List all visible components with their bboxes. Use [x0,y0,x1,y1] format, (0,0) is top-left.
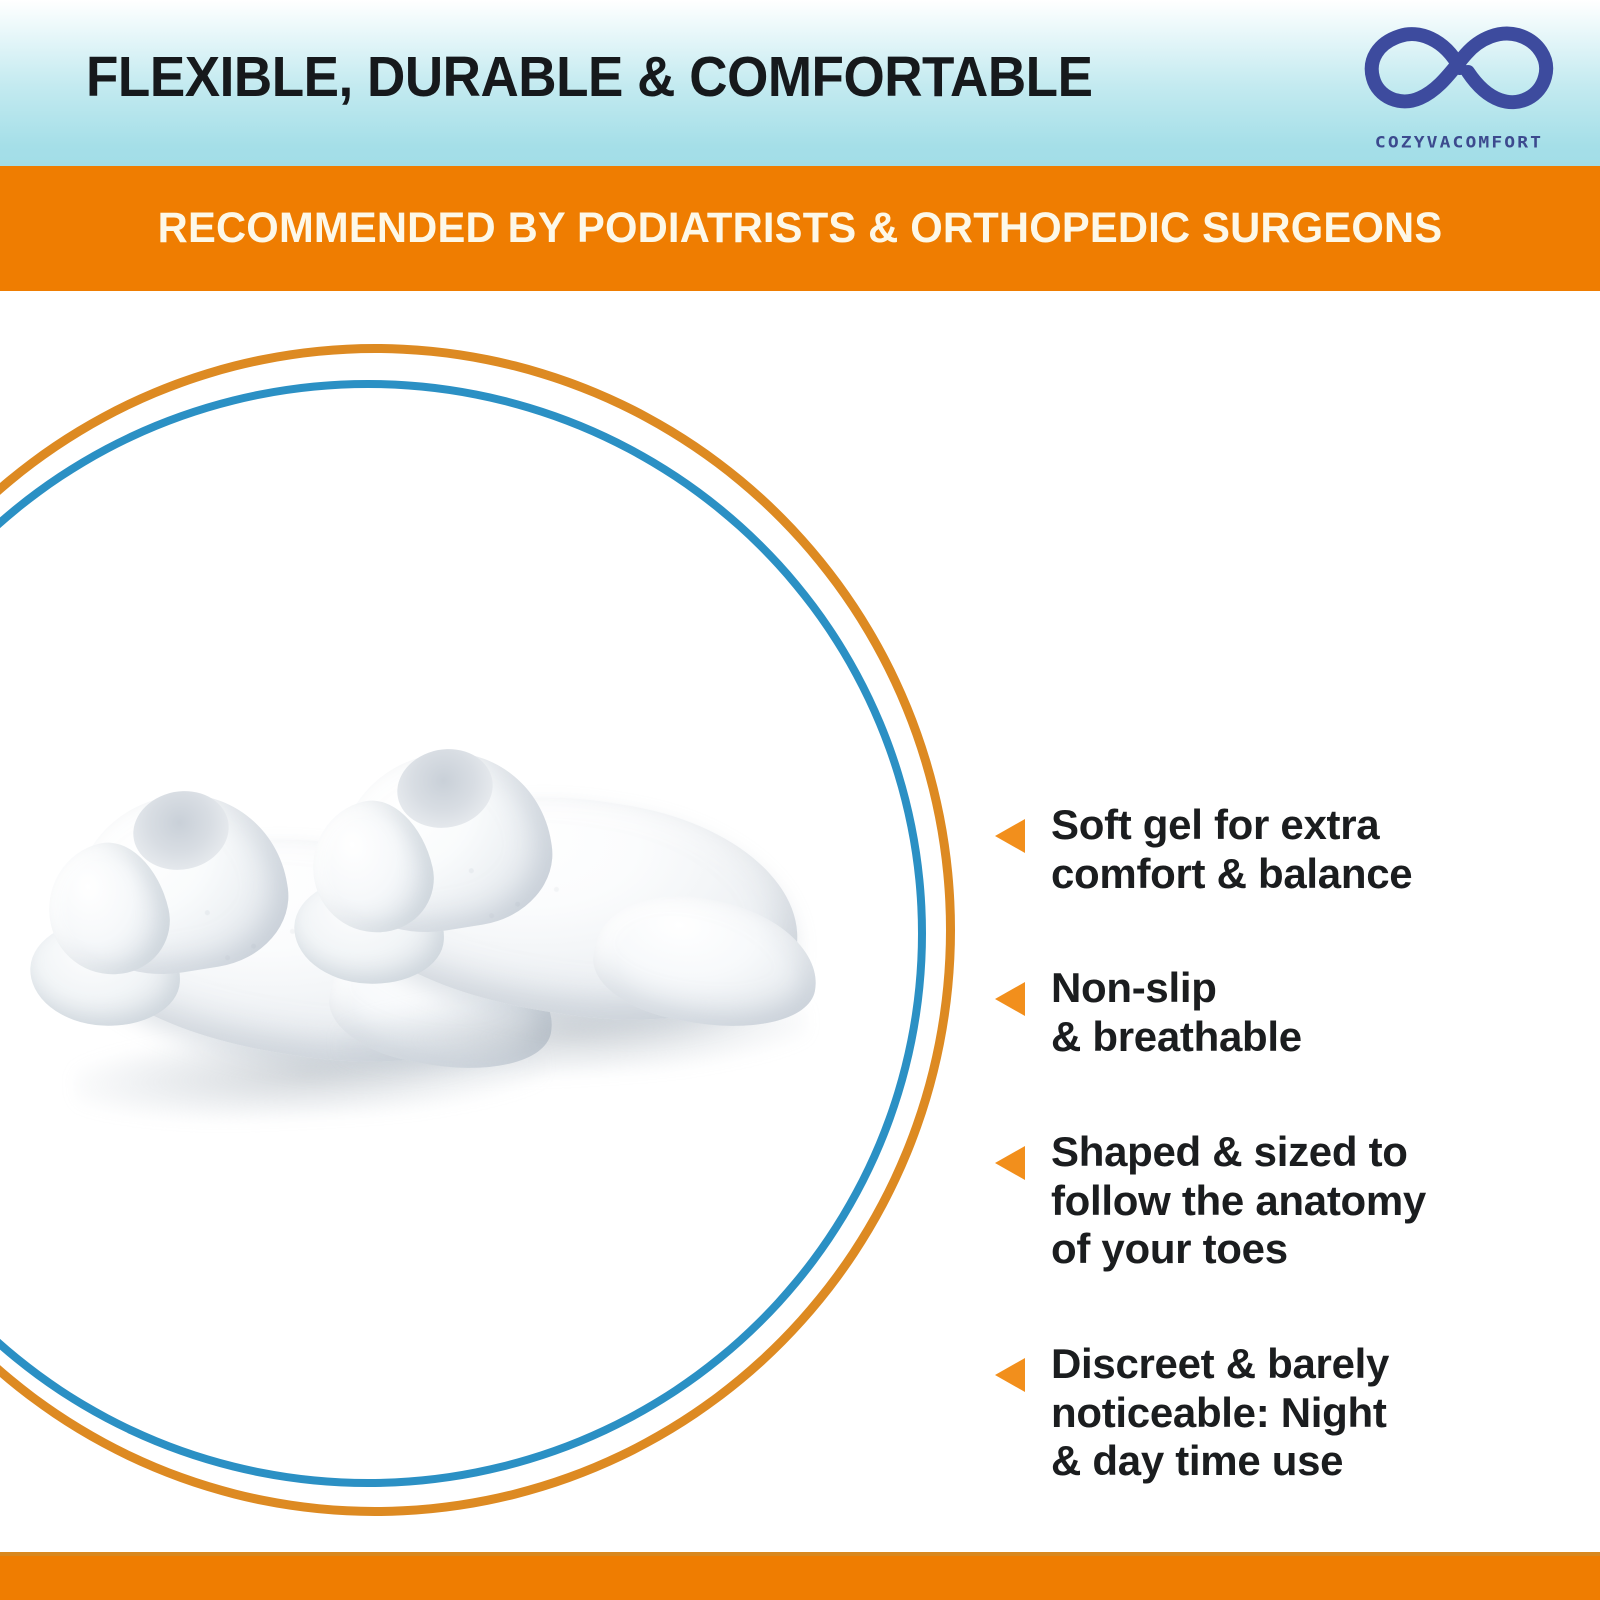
brand-logo: COZYVACOMFORT [1340,22,1578,150]
cc-infinity-monogram-icon [1348,22,1568,114]
main-stage: Soft gel for extra comfort & balance Non… [0,291,1600,1552]
feature-list: Soft gel for extra comfort & balance Non… [995,801,1555,1486]
feature-line: comfort & balance [1051,850,1412,897]
triangle-left-marker-icon [995,1146,1025,1180]
gel-toe-separator-right [283,725,861,1114]
triangle-left-marker-icon [995,1358,1025,1392]
feature-label: Non-slip & breathable [1051,964,1555,1061]
feature-label: Soft gel for extra comfort & balance [1051,801,1555,898]
feature-line: Non-slip [1051,964,1217,1011]
feature-line: & day time use [1051,1437,1343,1484]
triangle-left-marker-icon [995,819,1025,853]
feature-label: Discreet & barely noticeable: Night & da… [1051,1340,1555,1486]
feature-line: noticeable: Night [1051,1389,1387,1436]
header-band: FLEXIBLE, DURABLE & COMFORTABLE COZYVACO… [0,0,1600,166]
footer-band [0,1552,1600,1600]
feature-line: Discreet & barely [1051,1340,1389,1387]
feature-line: Shaped & sized to [1051,1128,1408,1175]
feature-item-soft-gel: Soft gel for extra comfort & balance [995,801,1555,898]
brand-wordmark: COZYVACOMFORT [1340,133,1578,151]
feature-line: Soft gel for extra [1051,801,1379,848]
recommendation-banner: RECOMMENDED BY PODIATRISTS & ORTHOPEDIC … [0,166,1600,295]
feature-item-anatomical-shape: Shaped & sized to follow the anatomy of … [995,1128,1555,1274]
product-photo [10,721,910,1191]
feature-item-non-slip: Non-slip & breathable [995,964,1555,1061]
page-title: FLEXIBLE, DURABLE & COMFORTABLE [86,44,1092,110]
product-infographic: FLEXIBLE, DURABLE & COMFORTABLE COZYVACO… [0,0,1600,1600]
feature-line: of your toes [1051,1225,1288,1272]
triangle-left-marker-icon [995,982,1025,1016]
feature-line: follow the anatomy [1051,1177,1426,1224]
feature-label: Shaped & sized to follow the anatomy of … [1051,1128,1555,1274]
feature-item-discreet: Discreet & barely noticeable: Night & da… [995,1340,1555,1486]
feature-line: & breathable [1051,1013,1302,1060]
recommendation-banner-text: RECOMMENDED BY PODIATRISTS & ORTHOPEDIC … [24,166,1576,291]
